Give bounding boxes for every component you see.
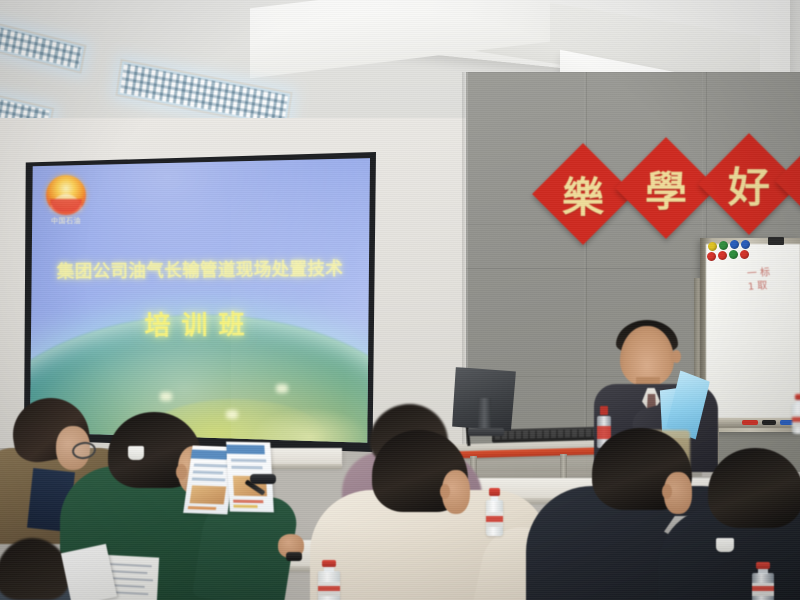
water-bottle [318, 560, 340, 600]
paper-cup [128, 446, 144, 460]
marker-icon [762, 420, 776, 425]
training-room-photo: 樂 學 好 一 标 1 取 中国石油 [0, 0, 800, 600]
placard-glyph [788, 150, 800, 212]
whiteboard-line-2: 1 取 [747, 277, 800, 294]
logo-sun-shape [46, 175, 86, 215]
attendee-ear [662, 484, 672, 499]
whiteboard-clip [768, 237, 784, 245]
placard-glyph: 樂 [547, 158, 619, 230]
water-bottle [486, 488, 503, 536]
presenter-ear [672, 350, 681, 363]
magnet-icon [729, 250, 738, 259]
water-bottle [792, 394, 800, 434]
slide-earth-highlight [160, 392, 172, 401]
mouse-icon [250, 474, 276, 484]
whiteboard-writing: 一 标 1 取 [747, 264, 800, 312]
wall-placard-diamond: 樂 [532, 143, 634, 245]
placard-glyph: 學 [630, 152, 702, 224]
attendee-dark-suit-2 [698, 448, 800, 600]
pen-icon [286, 552, 302, 561]
magnet-icon [707, 252, 716, 261]
placard-glyph: 好 [713, 148, 785, 220]
magnet-icon [741, 240, 750, 249]
water-bottle [752, 562, 774, 600]
attendee-ear [176, 464, 187, 480]
paper-cup [716, 538, 734, 552]
marker-icon [742, 420, 758, 425]
magnet-icon [730, 240, 739, 249]
logo-wordmark: 中国石油 [44, 216, 88, 226]
attendee-hair [708, 448, 800, 528]
magnet-icon [718, 251, 727, 260]
attendee-ear [440, 484, 450, 499]
monitor-stand [478, 398, 491, 432]
ceiling-coffer-e [250, 0, 550, 78]
attendee-cream-jacket [330, 430, 550, 600]
wall-seam [586, 72, 587, 472]
attendee-head [0, 538, 70, 600]
magnet-icon [719, 241, 728, 250]
magnet-icon [740, 250, 749, 259]
petrochina-sun-logo-icon: 中国石油 [46, 175, 86, 223]
screen-sheen [231, 157, 370, 445]
magnet-icon [708, 242, 717, 251]
